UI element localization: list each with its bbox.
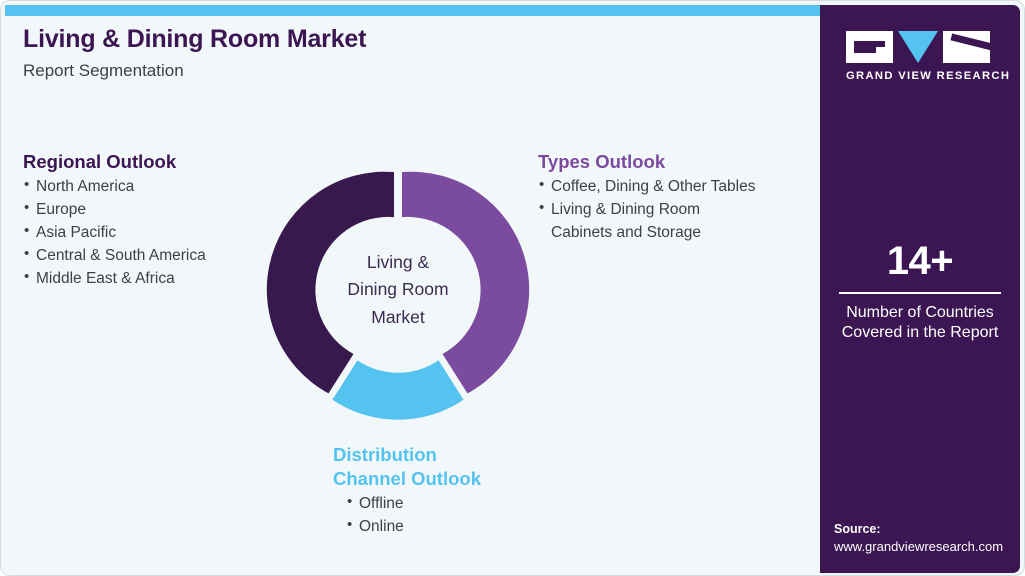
list-item: Living & Dining Room Cabinets and Storag… [538,198,828,244]
logo-marks [846,31,994,63]
donut-slice-types [402,172,529,394]
list-item-continuation: Cabinets and Storage [551,221,828,244]
stat-label-line-1: Number of Countries [846,304,994,321]
types-outlook-list: Coffee, Dining & Other Tables Living & D… [538,175,828,244]
source-block: Source: www.grandviewresearch.com [834,520,1016,557]
regional-outlook-list: North America Europe Asia Pacific Centra… [23,175,273,290]
list-item: Online [346,515,563,538]
list-item-text: Living & Dining Room [551,201,700,218]
donut-slice-distribution [332,360,463,419]
section-regional-outlook: Regional Outlook North America Europe As… [23,151,273,290]
page-title: Living & Dining Room Market [23,25,663,54]
logo-g-icon [846,31,893,63]
top-accent-bar [5,5,826,16]
list-item: North America [23,175,273,198]
infographic-page: Living & Dining Room Market Report Segme… [0,0,1025,576]
logo-r-icon [943,31,990,63]
list-item: Offline [346,492,563,515]
list-item: Middle East & Africa [23,267,273,290]
sidebar: GRAND VIEW RESEARCH 14+ Number of Countr… [820,5,1020,573]
distribution-outlook-title-line2: Channel Outlook [333,468,563,490]
grand-view-research-logo: GRAND VIEW RESEARCH [846,31,994,82]
regional-outlook-title: Regional Outlook [23,151,273,173]
types-outlook-title: Types Outlook [538,151,828,173]
countries-stat: 14+ Number of Countries Covered in the R… [820,241,1020,344]
section-distribution-channel-outlook: Distribution Channel Outlook Offline Onl… [333,444,563,538]
header: Living & Dining Room Market Report Segme… [23,25,663,81]
section-types-outlook: Types Outlook Coffee, Dining & Other Tab… [538,151,828,244]
list-item: Europe [23,198,273,221]
stat-label: Number of Countries Covered in the Repor… [820,303,1020,345]
distribution-outlook-title-line1: Distribution [333,444,563,466]
list-item: Coffee, Dining & Other Tables [538,175,828,198]
logo-v-triangle-icon [898,31,938,63]
stat-number: 14+ [820,241,1020,281]
list-item: Central & South America [23,244,273,267]
list-item: Asia Pacific [23,221,273,244]
logo-wordmark: GRAND VIEW RESEARCH [846,70,994,82]
stat-label-line-2: Covered in the Report [842,324,999,341]
donut-chart-svg [257,149,539,431]
distribution-outlook-list: Offline Online [333,492,563,538]
source-title: Source: [834,520,1016,538]
page-subtitle: Report Segmentation [23,61,663,81]
donut-slice-regional [267,172,394,394]
source-url[interactable]: www.grandviewresearch.com [834,538,1016,557]
donut-chart: Living & Dining Room Market [257,149,539,431]
stat-divider [839,292,1001,294]
